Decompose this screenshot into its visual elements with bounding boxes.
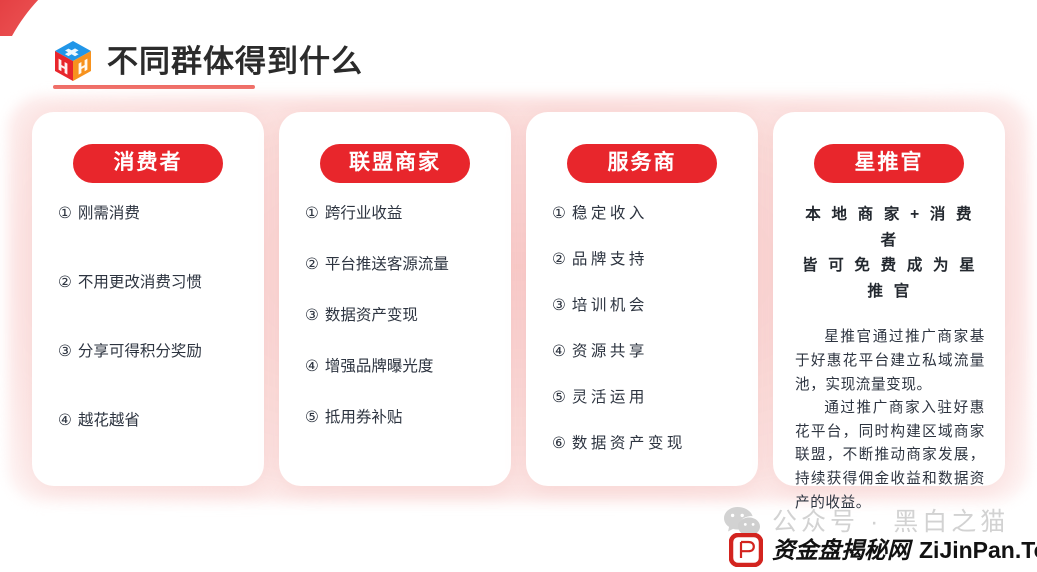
list-item: ⑥数据资产变现 xyxy=(552,434,740,455)
card-badge: 联盟商家 xyxy=(320,144,470,183)
list-item-label: 灵活运用 xyxy=(572,389,648,406)
page-header: 不同群体得到什么 xyxy=(53,33,363,89)
card-star-promoter[interactable]: 星推官 本 地 商 家 + 消 费 者 皆 可 免 费 成 为 星 推 官 星推… xyxy=(773,112,1005,486)
list-item-label: 资源共享 xyxy=(572,343,648,360)
list-item-number: ⑥ xyxy=(552,435,566,452)
list-item-number: ⑤ xyxy=(552,389,566,406)
list-item: ④越花越省 xyxy=(58,411,246,432)
wechat-icon xyxy=(722,505,762,539)
card-alliance-merchant[interactable]: 联盟商家 ①跨行业收益 ②平台推送客源流量 ③数据资产变现 ④增强品牌曝光度 ⑤… xyxy=(279,112,511,486)
page-title: 不同群体得到什么 xyxy=(107,46,363,77)
card-service-provider[interactable]: 服务商 ①稳定收入 ②品牌支持 ③培训机会 ④资源共享 ⑤灵活运用 ⑥数据资产变… xyxy=(526,112,758,486)
list-item-number: ③ xyxy=(58,343,72,360)
list-item-label: 平台推送客源流量 xyxy=(325,256,449,273)
list-item-label: 数据资产变现 xyxy=(572,435,686,452)
card-paragraph: 通过推广商家入驻好惠花平台，同时构建区域商家联盟，不断推动商家发展，持续获得佣金… xyxy=(795,397,985,515)
list-item-number: ② xyxy=(58,274,72,291)
title-underline xyxy=(53,85,255,89)
list-item-label: 越花越省 xyxy=(78,412,140,429)
list-item: ①刚需消费 xyxy=(58,204,246,225)
list-item-label: 培训机会 xyxy=(572,297,648,314)
list-item: ③数据资产变现 xyxy=(305,306,493,327)
list-item-label: 增强品牌曝光度 xyxy=(325,358,434,375)
zijinpan-logo-icon xyxy=(729,533,763,567)
list-item: ⑤灵活运用 xyxy=(552,388,740,409)
list-item-number: ⑤ xyxy=(305,409,319,426)
list-item-number: ① xyxy=(58,205,72,222)
card-item-list: ①刚需消费 ②不用更改消费习惯 ③分享可得积分奖励 ④越花越省 xyxy=(32,204,264,470)
list-item-label: 数据资产变现 xyxy=(325,307,418,324)
list-item: ③分享可得积分奖励 xyxy=(58,342,246,363)
site-watermark: 资金盘揭秘网 ZiJinPan.Top xyxy=(729,533,1037,567)
card-consumer[interactable]: 消费者 ①刚需消费 ②不用更改消费习惯 ③分享可得积分奖励 ④越花越省 xyxy=(32,112,264,486)
list-item-label: 品牌支持 xyxy=(572,251,648,268)
card-item-list: ①稳定收入 ②品牌支持 ③培训机会 ④资源共享 ⑤灵活运用 ⑥数据资产变现 xyxy=(526,204,758,470)
list-item-label: 刚需消费 xyxy=(78,205,140,222)
list-item: ③培训机会 xyxy=(552,296,740,317)
list-item-number: ① xyxy=(552,205,566,222)
list-item-label: 稳定收入 xyxy=(572,205,648,222)
list-item: ②平台推送客源流量 xyxy=(305,255,493,276)
card-subtitle-line-1: 本 地 商 家 + 消 费 者 xyxy=(795,202,985,253)
cards-row: 消费者 ①刚需消费 ②不用更改消费习惯 ③分享可得积分奖励 ④越花越省 联盟商家… xyxy=(32,112,1005,486)
list-item-number: ② xyxy=(305,256,319,273)
list-item-label: 跨行业收益 xyxy=(325,205,403,222)
card-badge: 星推官 xyxy=(814,144,964,183)
list-item-number: ③ xyxy=(305,307,319,324)
brand-cube-logo-icon xyxy=(53,40,93,82)
site-watermark-cn: 资金盘揭秘网 xyxy=(772,539,910,562)
list-item-label: 分享可得积分奖励 xyxy=(78,343,202,360)
list-item: ②不用更改消费习惯 xyxy=(58,273,246,294)
list-item-number: ① xyxy=(305,205,319,222)
slide-root: 不同群体得到什么 消费者 ①刚需消费 ②不用更改消费习惯 ③分享可得积分奖励 ④… xyxy=(0,0,1037,572)
site-watermark-en: ZiJinPan.Top xyxy=(919,539,1037,562)
list-item: ⑤抵用券补贴 xyxy=(305,408,493,429)
list-item-number: ② xyxy=(552,251,566,268)
card-text-block: 本 地 商 家 + 消 费 者 皆 可 免 费 成 为 星 推 官 星推官通过推… xyxy=(773,202,1005,515)
card-paragraph: 星推官通过推广商家基于好惠花平台建立私域流量池，实现流量变现。 xyxy=(795,326,985,397)
list-item-number: ④ xyxy=(552,343,566,360)
list-item-number: ④ xyxy=(58,412,72,429)
corner-swoosh-decoration xyxy=(0,0,162,36)
list-item: ①跨行业收益 xyxy=(305,204,493,225)
list-item-label: 不用更改消费习惯 xyxy=(78,274,202,291)
card-badge: 服务商 xyxy=(567,144,717,183)
card-subtitle-line-2: 皆 可 免 费 成 为 星 推 官 xyxy=(795,253,985,304)
list-item-number: ④ xyxy=(305,358,319,375)
card-subtitle: 本 地 商 家 + 消 费 者 皆 可 免 费 成 为 星 推 官 xyxy=(795,202,985,304)
list-item: ④增强品牌曝光度 xyxy=(305,357,493,378)
card-badge: 消费者 xyxy=(73,144,223,183)
list-item: ②品牌支持 xyxy=(552,250,740,271)
list-item: ①稳定收入 xyxy=(552,204,740,225)
card-item-list: ①跨行业收益 ②平台推送客源流量 ③数据资产变现 ④增强品牌曝光度 ⑤抵用券补贴 xyxy=(279,204,511,470)
list-item-label: 抵用券补贴 xyxy=(325,409,403,426)
list-item: ④资源共享 xyxy=(552,342,740,363)
list-item-number: ③ xyxy=(552,297,566,314)
